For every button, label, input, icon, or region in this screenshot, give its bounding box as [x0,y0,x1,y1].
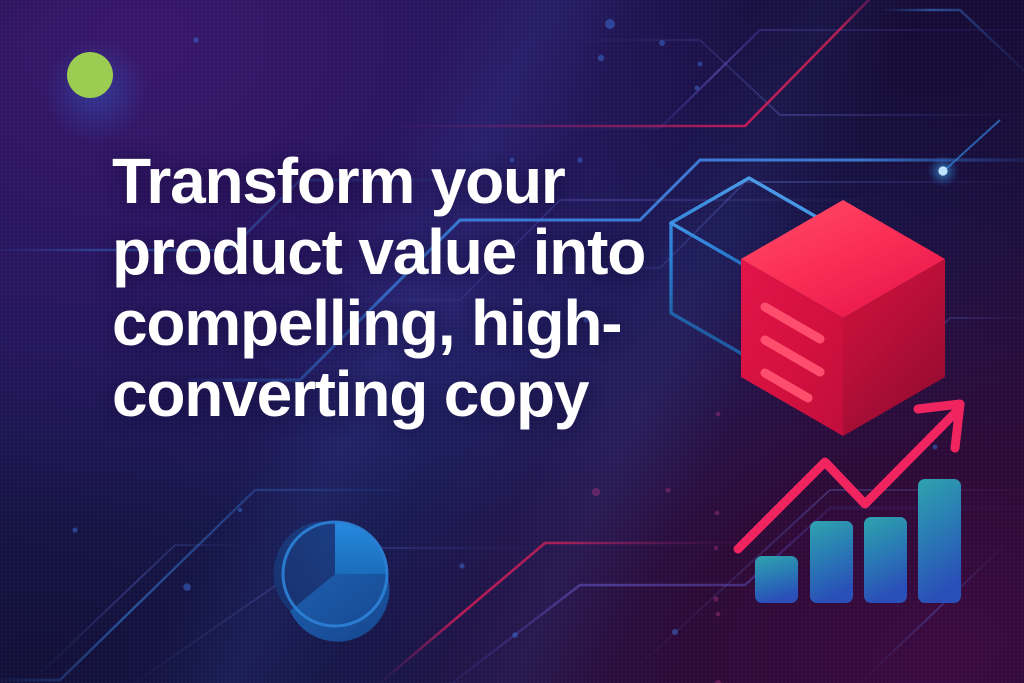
bar-series [755,479,961,603]
bar-item [755,556,798,603]
bar-item [864,517,907,603]
page-title: Transform your product value into compel… [112,146,652,430]
promo-banner: Transform your product value into compel… [0,0,1024,683]
bar-item [810,521,853,603]
bar-item [918,479,961,603]
